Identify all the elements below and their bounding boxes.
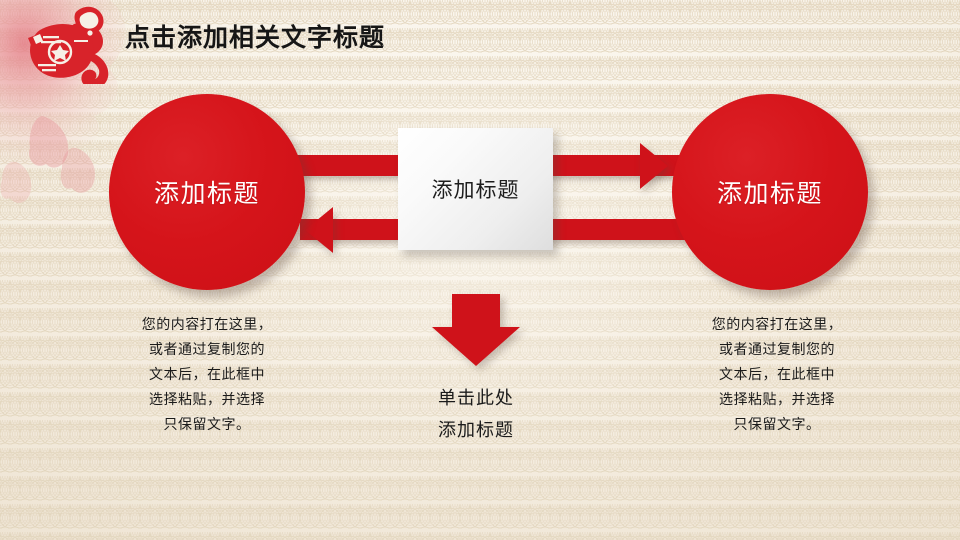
right-body-line: 选择粘贴，并选择 xyxy=(682,387,872,412)
left-body-text[interactable]: 您的内容打在这里， 或者通过复制您的 文本后，在此框中 选择粘贴，并选择 只保留… xyxy=(112,312,302,437)
right-body-text[interactable]: 您的内容打在这里， 或者通过复制您的 文本后，在此框中 选择粘贴，并选择 只保留… xyxy=(682,312,872,437)
center-caption-line: 单击此处 xyxy=(386,382,566,414)
left-body-line: 文本后，在此框中 xyxy=(112,362,302,387)
arrow-down-shaft xyxy=(452,294,500,328)
left-body-line: 您的内容打在这里， xyxy=(112,312,302,337)
right-circle-node[interactable]: 添加标题 xyxy=(672,94,868,290)
right-body-line: 或者通过复制您的 xyxy=(682,337,872,362)
arrow-right-head-icon xyxy=(640,143,668,189)
left-body-line: 选择粘贴，并选择 xyxy=(112,387,302,412)
left-body-line: 或者通过复制您的 xyxy=(112,337,302,362)
right-body-line: 只保留文字。 xyxy=(682,412,872,437)
arrow-down-icon xyxy=(432,294,520,366)
right-body-line: 您的内容打在这里， xyxy=(682,312,872,337)
arrow-left-head-icon xyxy=(305,207,333,253)
center-caption[interactable]: 单击此处 添加标题 xyxy=(386,382,566,446)
slide-canvas: 点击添加相关文字标题 添加标题 添加标题 添加标题 您的内容打在这里， 或者通过… xyxy=(0,0,960,540)
arrow-down-head xyxy=(432,327,520,366)
left-circle-label: 添加标题 xyxy=(154,174,260,210)
center-caption-line: 添加标题 xyxy=(386,414,566,446)
center-box-label: 添加标题 xyxy=(432,174,520,204)
left-body-line: 只保留文字。 xyxy=(112,412,302,437)
center-box-node[interactable]: 添加标题 xyxy=(398,128,553,250)
right-body-line: 文本后，在此框中 xyxy=(682,362,872,387)
left-circle-node[interactable]: 添加标题 xyxy=(109,94,305,290)
right-circle-label: 添加标题 xyxy=(717,174,823,210)
